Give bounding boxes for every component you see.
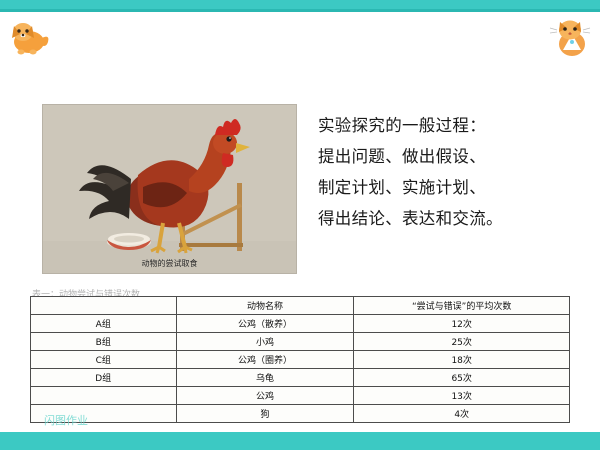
cell-group: C组 — [31, 351, 177, 369]
table-row: 公鸡 13次 — [31, 387, 570, 405]
table-header-animal: 动物名称 — [176, 297, 354, 315]
bottom-decorative-band — [0, 432, 600, 450]
cell-group: D组 — [31, 369, 177, 387]
cell-attempts: 4次 — [354, 405, 570, 423]
table-row: D组 乌龟 65次 — [31, 369, 570, 387]
cell-animal: 乌龟 — [176, 369, 354, 387]
cell-attempts: 65次 — [354, 369, 570, 387]
rooster-illustration — [43, 105, 296, 273]
text-line-3: 制定计划、实施计划、 — [318, 172, 590, 203]
dog-mascot-icon — [6, 14, 52, 60]
table-header-row: 动物名称 “尝试与错误”的平均次数 — [31, 297, 570, 315]
table-row: 狗 4次 — [31, 405, 570, 423]
table-row: C组 公鸡（圈养） 18次 — [31, 351, 570, 369]
cell-animal: 公鸡（散养） — [176, 315, 354, 333]
cell-group — [31, 387, 177, 405]
cell-attempts: 13次 — [354, 387, 570, 405]
results-table-container: 动物名称 “尝试与错误”的平均次数 A组 公鸡（散养） 12次 B组 小鸡 25… — [30, 296, 570, 423]
photo-caption: 动物的尝试取食 — [43, 258, 296, 269]
text-line-4: 得出结论、表达和交流。 — [318, 203, 590, 234]
cell-group: A组 — [31, 315, 177, 333]
rooster-photo: 动物的尝试取食 — [42, 104, 297, 274]
table-row: A组 公鸡（散养） 12次 — [31, 315, 570, 333]
cell-attempts: 12次 — [354, 315, 570, 333]
table-header-attempts: “尝试与错误”的平均次数 — [354, 297, 570, 315]
results-table: 动物名称 “尝试与错误”的平均次数 A组 公鸡（散养） 12次 B组 小鸡 25… — [30, 296, 570, 423]
table-header-group — [31, 297, 177, 315]
explanation-text: 实验探究的一般过程： 提出问题、做出假设、 制定计划、实施计划、 得出结论、表达… — [318, 110, 590, 234]
cell-animal: 狗 — [176, 405, 354, 423]
cell-attempts: 25次 — [354, 333, 570, 351]
cell-animal: 小鸡 — [176, 333, 354, 351]
top-band-accent — [0, 9, 600, 12]
text-line-1: 实验探究的一般过程： — [318, 110, 590, 141]
cell-attempts: 18次 — [354, 351, 570, 369]
cell-group: B组 — [31, 333, 177, 351]
watermark: 闪图作业 — [44, 412, 88, 428]
cat-mascot-icon — [548, 14, 594, 60]
cell-animal: 公鸡（圈养） — [176, 351, 354, 369]
cell-animal: 公鸡 — [176, 387, 354, 405]
table-row: B组 小鸡 25次 — [31, 333, 570, 351]
text-line-2: 提出问题、做出假设、 — [318, 141, 590, 172]
